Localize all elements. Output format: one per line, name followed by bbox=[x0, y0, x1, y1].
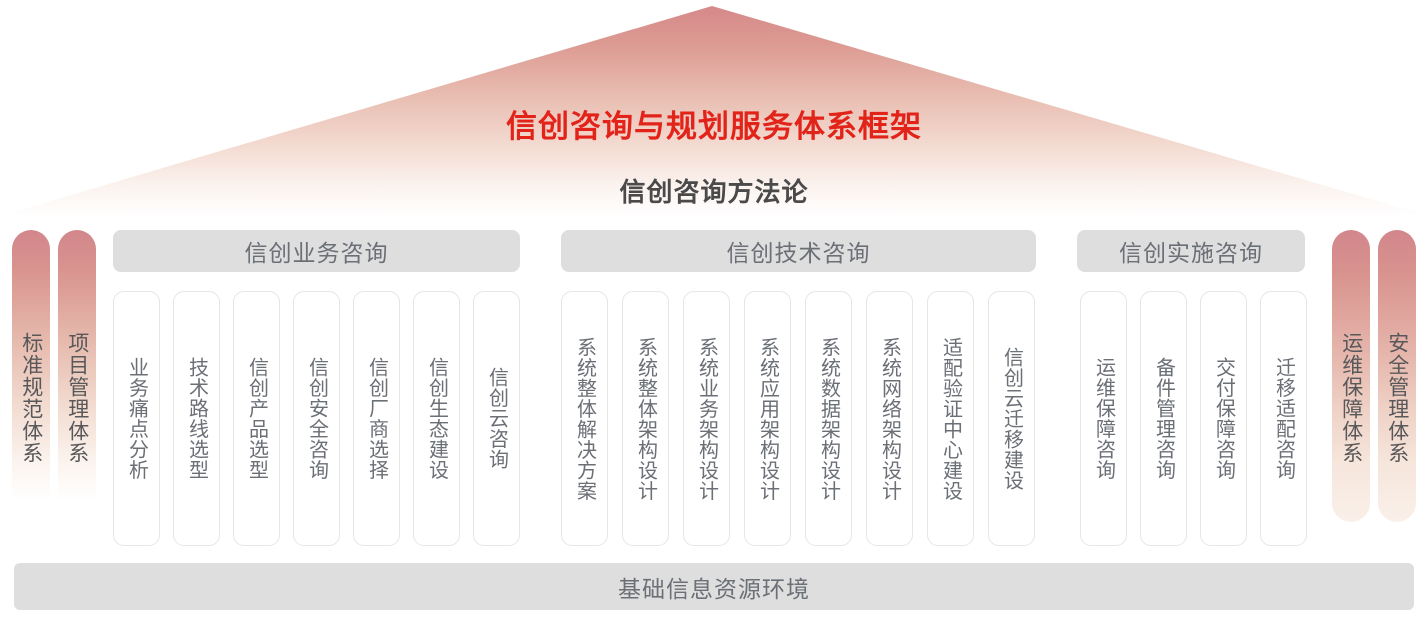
group-header-business[interactable]: 信创业务咨询 bbox=[113, 230, 520, 272]
page-title: 信创咨询与规划服务体系框架 bbox=[0, 101, 1428, 146]
card-system-overall-architecture-design[interactable]: 系统整体架构设计 bbox=[622, 291, 669, 546]
card-adaptation-verification-center[interactable]: 适配验证中心建设 bbox=[927, 291, 974, 546]
group-business-consulting: 信创业务咨询 业务痛点分析 技术路线选型 信创产品选型 信创安全咨询 信创厂商选… bbox=[113, 230, 520, 272]
pillar-label: 安全管理体系 bbox=[1385, 332, 1409, 464]
page-subtitle: 信创咨询方法论 bbox=[0, 172, 1428, 209]
pillar-label: 项目管理体系 bbox=[65, 332, 89, 464]
card-migration-adaptation-consulting[interactable]: 迁移适配咨询 bbox=[1260, 291, 1307, 546]
card-label: 信创安全咨询 bbox=[306, 357, 328, 480]
pillar-label: 运维保障体系 bbox=[1339, 332, 1363, 464]
card-label: 业务痛点分析 bbox=[126, 357, 148, 480]
card-tech-roadmap-selection[interactable]: 技术路线选型 bbox=[173, 291, 220, 546]
pillar-security-management-system[interactable]: 安全管理体系 bbox=[1378, 230, 1416, 522]
card-xinchuang-vendor-selection[interactable]: 信创厂商选择 bbox=[353, 291, 400, 546]
pillar-standard-spec-system[interactable]: 标准规范体系 bbox=[12, 230, 50, 522]
card-label: 迁移适配咨询 bbox=[1273, 357, 1295, 480]
card-label: 信创云咨询 bbox=[486, 367, 508, 470]
card-delivery-assurance-consulting[interactable]: 交付保障咨询 bbox=[1200, 291, 1247, 546]
card-label: 系统网络架构设计 bbox=[879, 337, 901, 501]
group-technology-consulting: 信创技术咨询 系统整体解决方案 系统整体架构设计 系统业务架构设计 系统应用架构… bbox=[561, 230, 1036, 272]
framework-diagram: 信创咨询与规划服务体系框架 信创咨询方法论 标准规范体系 项目管理体系 运维保障… bbox=[0, 0, 1428, 627]
card-label: 运维保障咨询 bbox=[1093, 357, 1115, 480]
group-cards-technology: 系统整体解决方案 系统整体架构设计 系统业务架构设计 系统应用架构设计 系统数据… bbox=[561, 291, 1035, 546]
card-ops-assurance-consulting[interactable]: 运维保障咨询 bbox=[1080, 291, 1127, 546]
card-label: 信创云迁移建设 bbox=[1001, 347, 1023, 491]
foundation-infrastructure-bar[interactable]: 基础信息资源环境 bbox=[14, 563, 1414, 610]
card-label: 系统业务架构设计 bbox=[696, 337, 718, 501]
card-label: 技术路线选型 bbox=[186, 357, 208, 480]
card-label: 系统应用架构设计 bbox=[757, 337, 779, 501]
card-label: 适配验证中心建设 bbox=[940, 337, 962, 501]
group-cards-business: 业务痛点分析 技术路线选型 信创产品选型 信创安全咨询 信创厂商选择 信创生态建… bbox=[113, 291, 520, 546]
card-system-business-architecture-design[interactable]: 系统业务架构设计 bbox=[683, 291, 730, 546]
card-xinchuang-security-consulting[interactable]: 信创安全咨询 bbox=[293, 291, 340, 546]
pillar-label: 标准规范体系 bbox=[19, 332, 43, 464]
group-header-technology[interactable]: 信创技术咨询 bbox=[561, 230, 1036, 272]
pillar-ops-assurance-system[interactable]: 运维保障体系 bbox=[1332, 230, 1370, 522]
card-xinchuang-cloud-migration[interactable]: 信创云迁移建设 bbox=[988, 291, 1035, 546]
card-label: 备件管理咨询 bbox=[1153, 357, 1175, 480]
footer-label: 基础信息资源环境 bbox=[618, 570, 810, 604]
card-label: 交付保障咨询 bbox=[1213, 357, 1235, 480]
card-system-data-architecture-design[interactable]: 系统数据架构设计 bbox=[805, 291, 852, 546]
card-xinchuang-cloud-consulting[interactable]: 信创云咨询 bbox=[473, 291, 520, 546]
card-system-network-architecture-design[interactable]: 系统网络架构设计 bbox=[866, 291, 913, 546]
card-spare-parts-management-consulting[interactable]: 备件管理咨询 bbox=[1140, 291, 1187, 546]
card-system-application-architecture-design[interactable]: 系统应用架构设计 bbox=[744, 291, 791, 546]
card-xinchuang-product-selection[interactable]: 信创产品选型 bbox=[233, 291, 280, 546]
group-header-implementation[interactable]: 信创实施咨询 bbox=[1077, 230, 1305, 272]
card-system-overall-solution[interactable]: 系统整体解决方案 bbox=[561, 291, 608, 546]
pillar-project-management-system[interactable]: 项目管理体系 bbox=[58, 230, 96, 522]
card-label: 系统整体架构设计 bbox=[635, 337, 657, 501]
card-label: 系统整体解决方案 bbox=[574, 337, 596, 501]
group-cards-implementation: 运维保障咨询 备件管理咨询 交付保障咨询 迁移适配咨询 bbox=[1080, 291, 1307, 546]
card-label: 信创生态建设 bbox=[426, 357, 448, 480]
card-xinchuang-ecosystem-building[interactable]: 信创生态建设 bbox=[413, 291, 460, 546]
card-label: 系统数据架构设计 bbox=[818, 337, 840, 501]
group-implementation-consulting: 信创实施咨询 运维保障咨询 备件管理咨询 交付保障咨询 迁移适配咨询 bbox=[1077, 230, 1305, 272]
card-business-pain-point-analysis[interactable]: 业务痛点分析 bbox=[113, 291, 160, 546]
card-label: 信创产品选型 bbox=[246, 357, 268, 480]
card-label: 信创厂商选择 bbox=[366, 357, 388, 480]
